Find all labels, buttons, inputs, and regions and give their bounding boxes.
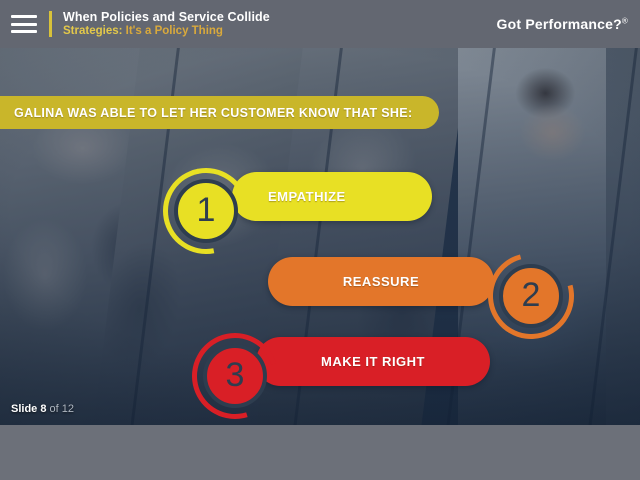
hamburger-bar <box>11 23 37 26</box>
brand-logo: Got Performance?® <box>497 16 628 32</box>
badge-disc-1: 1 <box>174 179 238 243</box>
slide-counter: Slide 8 of 12 <box>11 403 74 415</box>
header-titles: When Policies and Service Collide Strate… <box>63 10 270 38</box>
hamburger-bar <box>11 30 37 33</box>
step-number-2: 2 <box>522 278 541 312</box>
course-subtitle: Strategies: It's a Policy Thing <box>63 25 270 39</box>
course-subtitle-suffix: It's a Policy Thing <box>126 25 223 37</box>
course-subtitle-prefix: Strategies: <box>63 25 122 37</box>
slide-counter-current: Slide 8 <box>11 403 46 415</box>
header-divider <box>49 11 52 37</box>
slide-canvas[interactable]: GALINA WAS ABLE TO LET HER CUSTOMER KNOW… <box>0 30 640 425</box>
headline-banner-text: GALINA WAS ABLE TO LET HER CUSTOMER KNOW… <box>14 106 413 120</box>
slide-viewer: GALINA WAS ABLE TO LET HER CUSTOMER KNOW… <box>0 0 640 480</box>
step-row-1: EMPATHIZE 1 <box>0 150 640 240</box>
letterbox-bottom <box>0 425 640 480</box>
step-label-2: REASSURE <box>343 274 419 289</box>
step-pill-3[interactable]: MAKE IT RIGHT <box>256 337 490 386</box>
step-label-3: MAKE IT RIGHT <box>321 354 425 369</box>
brand-text: Got Performance? <box>497 16 622 32</box>
step-number-3: 3 <box>226 358 245 392</box>
hamburger-menu-icon[interactable] <box>11 15 37 33</box>
registered-trademark-icon: ® <box>622 16 628 25</box>
step-pill-2[interactable]: REASSURE <box>268 257 494 306</box>
course-title: When Policies and Service Collide <box>63 10 270 25</box>
header-bar: When Policies and Service Collide Strate… <box>0 0 640 48</box>
step-number-1: 1 <box>197 193 216 227</box>
headline-banner: GALINA WAS ABLE TO LET HER CUSTOMER KNOW… <box>0 96 439 129</box>
step-label-1: EMPATHIZE <box>268 189 346 204</box>
hamburger-bar <box>11 15 37 18</box>
step-badge-3: 3 <box>192 333 278 419</box>
step-pill-1[interactable]: EMPATHIZE <box>232 172 432 221</box>
badge-disc-3: 3 <box>203 344 267 408</box>
step-row-3: MAKE IT RIGHT 3 <box>0 315 640 405</box>
slide-counter-total: of 12 <box>50 403 74 415</box>
step-row-2: REASSURE 2 <box>0 235 640 325</box>
